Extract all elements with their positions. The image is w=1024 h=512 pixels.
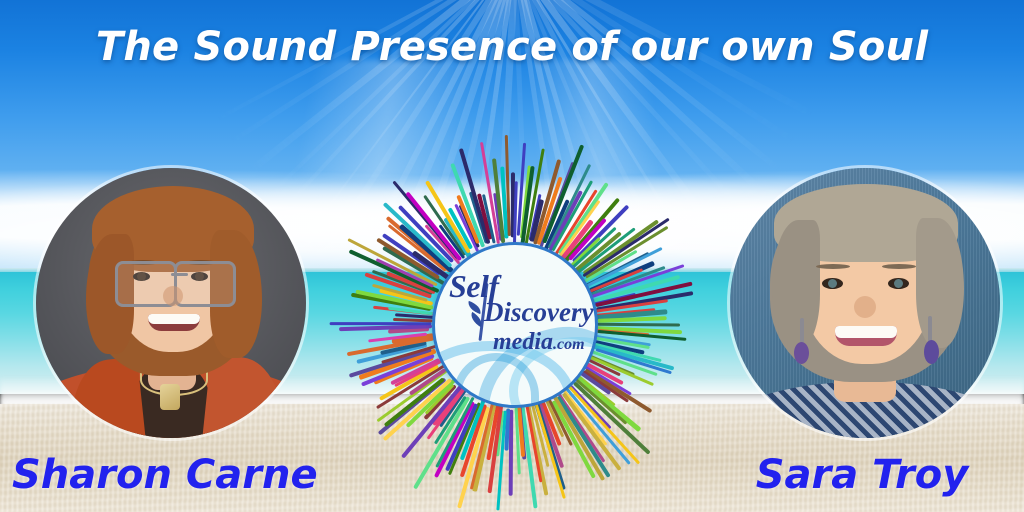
avatar-sharon-carne bbox=[36, 168, 306, 438]
pendant bbox=[160, 384, 180, 410]
logo-word-media: media.com bbox=[493, 329, 585, 356]
guest-name-right: Sara Troy bbox=[712, 452, 1012, 498]
promo-graphic: The Sound Presence of our own Soul bbox=[0, 0, 1024, 512]
logo-media-text: media bbox=[493, 329, 553, 355]
earring-left-bead bbox=[794, 342, 809, 364]
eye-left bbox=[822, 278, 843, 289]
guest-name-left: Sharon Carne bbox=[12, 452, 312, 498]
page-title: The Sound Presence of our own Soul bbox=[0, 24, 1024, 70]
mouth bbox=[148, 314, 200, 331]
earring-right-bead bbox=[924, 340, 939, 364]
nose bbox=[854, 296, 876, 318]
glasses-lens-right bbox=[174, 261, 236, 307]
burst-spoke bbox=[330, 322, 432, 326]
logo-disc: Self Discovery media.com bbox=[432, 242, 598, 408]
eyebrow-right bbox=[882, 264, 916, 269]
avatar-sara-troy bbox=[730, 168, 1000, 438]
logo-com-text: .com bbox=[553, 336, 585, 353]
earring-right-chain bbox=[928, 316, 932, 342]
mouth bbox=[835, 326, 897, 346]
earring-left-chain bbox=[800, 318, 804, 344]
hair-left bbox=[772, 220, 820, 348]
eyebrow-left bbox=[816, 264, 850, 269]
eye-right bbox=[888, 278, 909, 289]
nose bbox=[163, 286, 183, 306]
glasses-bridge bbox=[171, 273, 188, 276]
logo-word-discovery: Discovery bbox=[484, 297, 593, 328]
self-discovery-logo[interactable]: Self Discovery media.com bbox=[329, 139, 695, 505]
